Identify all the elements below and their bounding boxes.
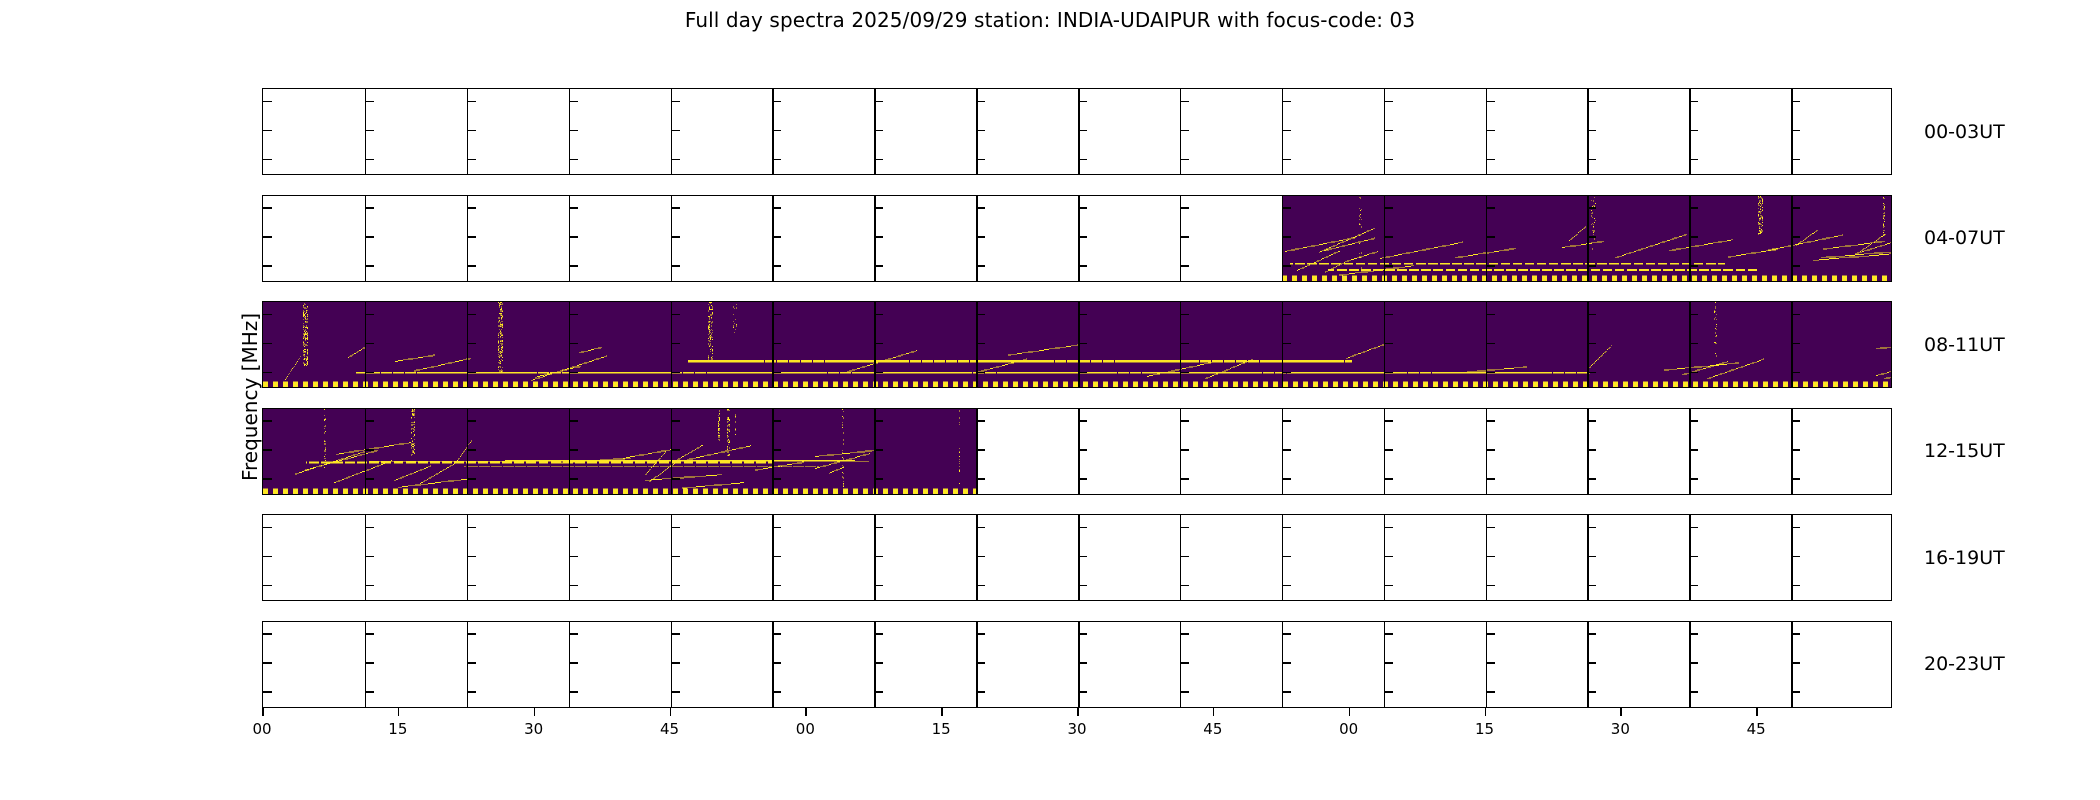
y-tick-mark: [1078, 478, 1087, 480]
y-tick-mark: [365, 372, 374, 374]
y-tick-mark: [1486, 633, 1495, 635]
y-tick-mark: [467, 159, 476, 161]
x-tick-mark: [534, 708, 536, 716]
y-tick-mark: [1078, 527, 1087, 529]
y-tick-mark: [976, 372, 985, 374]
y-tick-mark: [874, 449, 883, 451]
y-tick-mark: [569, 527, 578, 529]
y-tick-mark: [467, 236, 476, 238]
y-tick-mark: [1689, 449, 1698, 451]
y-tick-mark: [1384, 527, 1393, 529]
y-tick-mark: [1587, 633, 1596, 635]
y-tick-mark: [976, 478, 985, 480]
x-tick-label: 15: [932, 720, 951, 738]
y-tick-mark: [874, 101, 883, 103]
y-tick-mark: [671, 236, 680, 238]
y-tick-mark: [1078, 130, 1087, 132]
y-tick-mark: [976, 527, 985, 529]
y-tick-mark: [1282, 527, 1291, 529]
y-tick-mark: [976, 420, 985, 422]
y-tick-mark: [1689, 662, 1698, 664]
y-tick-mark: [1180, 159, 1189, 161]
y-tick-mark: [569, 556, 578, 558]
y-tick-mark: [1384, 478, 1393, 480]
x-tick-label: 45: [1203, 720, 1222, 738]
y-tick-mark: [1078, 449, 1087, 451]
y-tick-mark: [1689, 372, 1698, 374]
y-tick-mark: [1078, 207, 1087, 209]
y-tick-mark: [1282, 691, 1291, 693]
y-tick-mark: [1384, 420, 1393, 422]
y-tick-mark: [1078, 662, 1087, 664]
y-tick-mark: [263, 585, 272, 587]
y-tick-mark: [671, 585, 680, 587]
y-tick-mark: [263, 101, 272, 103]
y-tick-mark: [1486, 556, 1495, 558]
y-tick-mark: [1486, 343, 1495, 345]
spectrogram-row-20-23ut: [262, 621, 1892, 708]
y-tick-mark: [263, 556, 272, 558]
y-tick-mark: [1791, 556, 1800, 558]
y-tick-mark: [976, 662, 985, 664]
y-tick-mark: [1587, 585, 1596, 587]
y-tick-mark: [1486, 662, 1495, 664]
y-tick-mark: [772, 478, 781, 480]
y-tick-mark: [1486, 478, 1495, 480]
y-tick-mark: [772, 527, 781, 529]
y-tick-mark: [1078, 314, 1087, 316]
y-tick-mark: [1282, 101, 1291, 103]
y-tick-mark: [976, 585, 985, 587]
y-tick-mark: [467, 556, 476, 558]
y-tick-mark: [671, 556, 680, 558]
y-tick-mark: [1282, 662, 1291, 664]
row-label-20-23ut: 20-23UT: [1924, 653, 2005, 675]
y-tick-mark: [1180, 420, 1189, 422]
spectrogram-row-12-15ut: [262, 408, 1892, 495]
y-tick-mark: [874, 420, 883, 422]
y-tick-mark: [1180, 556, 1189, 558]
y-tick-mark: [569, 101, 578, 103]
y-tick-mark: [467, 585, 476, 587]
y-tick-mark: [1689, 420, 1698, 422]
y-tick-mark: [1384, 265, 1393, 267]
plot-area: Frequency [MHz] 75502500-03UT75502504-07…: [262, 88, 1892, 705]
y-tick-mark: [1486, 372, 1495, 374]
y-tick-mark: [263, 527, 272, 529]
y-tick-mark: [1689, 556, 1698, 558]
y-tick-mark: [1282, 207, 1291, 209]
row-label-00-03ut: 00-03UT: [1924, 121, 2005, 143]
y-tick-mark: [772, 449, 781, 451]
y-tick-mark: [1486, 691, 1495, 693]
y-tick-mark: [874, 343, 883, 345]
y-tick-mark: [1791, 265, 1800, 267]
y-tick-mark: [365, 420, 374, 422]
y-tick-mark: [1282, 449, 1291, 451]
y-tick-mark: [976, 633, 985, 635]
y-tick-mark: [1486, 265, 1495, 267]
panel-separators: [263, 622, 1891, 707]
y-tick-mark: [263, 130, 272, 132]
y-tick-mark: [1384, 130, 1393, 132]
y-tick-mark: [365, 130, 374, 132]
y-tick-mark: [263, 420, 272, 422]
y-tick-mark: [263, 314, 272, 316]
y-tick-mark: [976, 207, 985, 209]
y-tick-mark: [1791, 159, 1800, 161]
y-tick-mark: [1282, 372, 1291, 374]
y-tick-mark: [1384, 314, 1393, 316]
y-tick-mark: [772, 130, 781, 132]
y-tick-mark: [1180, 449, 1189, 451]
x-tick-label: 15: [388, 720, 407, 738]
y-tick-mark: [467, 343, 476, 345]
y-tick-mark: [467, 420, 476, 422]
y-tick-mark: [467, 449, 476, 451]
y-tick-mark: [874, 585, 883, 587]
y-tick-mark: [365, 449, 374, 451]
y-tick-mark: [1486, 236, 1495, 238]
y-tick-mark: [1078, 420, 1087, 422]
y-tick-mark: [874, 662, 883, 664]
y-tick-mark: [772, 662, 781, 664]
y-tick-mark: [1282, 343, 1291, 345]
panel-separators: [263, 89, 1891, 174]
y-axis-title: Frequency [MHz]: [238, 312, 262, 480]
x-tick-label: 00: [252, 720, 271, 738]
x-tick-label: 00: [796, 720, 815, 738]
y-tick-mark: [467, 527, 476, 529]
y-tick-mark: [263, 236, 272, 238]
y-tick-mark: [772, 314, 781, 316]
figure-title: Full day spectra 2025/09/29 station: IND…: [0, 8, 2100, 32]
x-tick-mark: [941, 708, 943, 716]
y-tick-mark: [1384, 585, 1393, 587]
y-tick-mark: [1078, 585, 1087, 587]
y-tick-mark: [976, 101, 985, 103]
y-tick-mark: [467, 372, 476, 374]
y-tick-mark: [1689, 159, 1698, 161]
y-tick-mark: [1180, 343, 1189, 345]
y-tick-mark: [1078, 343, 1087, 345]
y-tick-mark: [1587, 420, 1596, 422]
y-tick-mark: [1587, 159, 1596, 161]
y-tick-mark: [263, 633, 272, 635]
y-tick-mark: [1384, 159, 1393, 161]
y-tick-mark: [976, 265, 985, 267]
row-label-16-19ut: 16-19UT: [1924, 547, 2005, 569]
y-tick-mark: [467, 265, 476, 267]
y-tick-mark: [1078, 101, 1087, 103]
y-tick-mark: [1180, 101, 1189, 103]
y-tick-mark: [1486, 101, 1495, 103]
y-tick-mark: [1587, 265, 1596, 267]
y-tick-mark: [1486, 420, 1495, 422]
y-tick-mark: [365, 236, 374, 238]
y-tick-mark: [874, 130, 883, 132]
x-tick-label: 15: [1475, 720, 1494, 738]
y-tick-mark: [569, 449, 578, 451]
y-tick-mark: [1587, 236, 1596, 238]
y-tick-mark: [1587, 343, 1596, 345]
y-tick-mark: [365, 633, 374, 635]
y-tick-mark: [976, 556, 985, 558]
spectrogram-row-16-19ut: [262, 514, 1892, 601]
y-tick-mark: [1587, 449, 1596, 451]
y-tick-mark: [1180, 372, 1189, 374]
y-tick-mark: [1791, 691, 1800, 693]
y-tick-mark: [671, 130, 680, 132]
y-tick-mark: [772, 265, 781, 267]
y-tick-mark: [365, 207, 374, 209]
y-tick-mark: [1282, 159, 1291, 161]
y-tick-mark: [772, 207, 781, 209]
y-tick-mark: [1384, 691, 1393, 693]
y-tick-mark: [976, 691, 985, 693]
x-tick-mark: [670, 708, 672, 716]
y-tick-mark: [1689, 130, 1698, 132]
y-tick-mark: [874, 478, 883, 480]
y-tick-mark: [467, 691, 476, 693]
y-tick-mark: [772, 159, 781, 161]
y-tick-mark: [467, 314, 476, 316]
y-tick-mark: [1689, 314, 1698, 316]
y-tick-mark: [1791, 343, 1800, 345]
y-tick-mark: [976, 449, 985, 451]
y-tick-mark: [365, 101, 374, 103]
y-tick-mark: [263, 691, 272, 693]
y-tick-mark: [1078, 633, 1087, 635]
y-tick-mark: [365, 343, 374, 345]
y-tick-mark: [569, 207, 578, 209]
y-tick-mark: [1384, 101, 1393, 103]
row-label-04-07ut: 04-07UT: [1924, 227, 2005, 249]
y-tick-mark: [365, 662, 374, 664]
y-tick-mark: [671, 159, 680, 161]
y-tick-mark: [1791, 101, 1800, 103]
spectrogram-row-04-07ut: [262, 195, 1892, 282]
x-tick-label: 45: [1747, 720, 1766, 738]
y-tick-mark: [467, 633, 476, 635]
y-tick-mark: [569, 372, 578, 374]
y-tick-mark: [1587, 130, 1596, 132]
y-tick-mark: [1486, 449, 1495, 451]
y-tick-mark: [772, 343, 781, 345]
y-tick-mark: [772, 691, 781, 693]
x-tick-label: 30: [1067, 720, 1086, 738]
x-tick-mark: [1756, 708, 1758, 716]
y-tick-mark: [671, 343, 680, 345]
y-tick-mark: [1791, 478, 1800, 480]
y-tick-mark: [467, 130, 476, 132]
y-tick-mark: [874, 633, 883, 635]
y-tick-mark: [1689, 633, 1698, 635]
y-tick-mark: [976, 314, 985, 316]
y-tick-mark: [365, 527, 374, 529]
y-tick-mark: [1078, 691, 1087, 693]
y-tick-mark: [1587, 556, 1596, 558]
y-tick-mark: [1282, 633, 1291, 635]
y-tick-mark: [1282, 478, 1291, 480]
y-tick-mark: [1791, 633, 1800, 635]
x-tick-label: 30: [524, 720, 543, 738]
y-tick-mark: [263, 159, 272, 161]
y-tick-mark: [1587, 372, 1596, 374]
y-tick-mark: [1791, 449, 1800, 451]
x-tick-label: 00: [1339, 720, 1358, 738]
y-tick-mark: [1078, 236, 1087, 238]
y-tick-mark: [1282, 420, 1291, 422]
y-tick-mark: [365, 265, 374, 267]
y-tick-mark: [1282, 130, 1291, 132]
y-tick-mark: [569, 662, 578, 664]
y-tick-mark: [772, 585, 781, 587]
y-tick-mark: [874, 314, 883, 316]
y-tick-mark: [1689, 207, 1698, 209]
x-tick-mark: [1077, 708, 1079, 716]
y-tick-mark: [1282, 314, 1291, 316]
x-tick-mark: [1349, 708, 1351, 716]
y-tick-mark: [1587, 662, 1596, 664]
y-tick-mark: [1180, 585, 1189, 587]
y-tick-mark: [1282, 585, 1291, 587]
x-tick-mark: [1485, 708, 1487, 716]
y-tick-mark: [976, 159, 985, 161]
y-tick-mark: [467, 101, 476, 103]
y-tick-mark: [263, 343, 272, 345]
y-tick-mark: [569, 343, 578, 345]
y-tick-mark: [1486, 207, 1495, 209]
y-tick-mark: [1791, 420, 1800, 422]
y-tick-mark: [263, 207, 272, 209]
y-tick-mark: [1384, 449, 1393, 451]
y-tick-mark: [1689, 527, 1698, 529]
y-tick-mark: [1180, 691, 1189, 693]
y-tick-mark: [671, 662, 680, 664]
y-tick-mark: [671, 633, 680, 635]
y-tick-mark: [263, 662, 272, 664]
y-tick-mark: [1689, 265, 1698, 267]
y-tick-mark: [976, 236, 985, 238]
y-tick-mark: [772, 372, 781, 374]
y-tick-mark: [365, 159, 374, 161]
y-tick-mark: [1689, 585, 1698, 587]
spectrogram-row-00-03ut: [262, 88, 1892, 175]
y-tick-mark: [1791, 236, 1800, 238]
x-tick-mark: [805, 708, 807, 716]
y-tick-mark: [671, 691, 680, 693]
y-tick-mark: [874, 372, 883, 374]
y-tick-mark: [1384, 633, 1393, 635]
y-tick-mark: [569, 478, 578, 480]
row-label-08-11ut: 08-11UT: [1924, 334, 2005, 356]
y-tick-mark: [1689, 236, 1698, 238]
y-tick-mark: [1791, 527, 1800, 529]
y-tick-mark: [1180, 207, 1189, 209]
y-tick-mark: [874, 265, 883, 267]
y-tick-mark: [1689, 101, 1698, 103]
y-tick-mark: [467, 478, 476, 480]
x-tick-mark: [1213, 708, 1215, 716]
y-tick-mark: [874, 236, 883, 238]
y-tick-mark: [1486, 130, 1495, 132]
y-tick-mark: [671, 449, 680, 451]
y-tick-mark: [1180, 662, 1189, 664]
y-tick-mark: [1078, 159, 1087, 161]
y-tick-mark: [671, 314, 680, 316]
y-tick-mark: [1486, 159, 1495, 161]
y-tick-mark: [1689, 691, 1698, 693]
y-tick-mark: [569, 585, 578, 587]
y-tick-mark: [671, 101, 680, 103]
y-tick-mark: [671, 420, 680, 422]
y-tick-mark: [569, 314, 578, 316]
y-tick-mark: [1587, 691, 1596, 693]
y-tick-mark: [671, 372, 680, 374]
x-tick-mark: [398, 708, 400, 716]
x-tick-mark: [262, 708, 264, 716]
y-tick-mark: [467, 207, 476, 209]
y-tick-mark: [1689, 478, 1698, 480]
y-tick-mark: [1384, 236, 1393, 238]
y-tick-mark: [1180, 130, 1189, 132]
y-tick-mark: [1486, 527, 1495, 529]
y-tick-mark: [1791, 372, 1800, 374]
y-tick-mark: [874, 207, 883, 209]
y-tick-mark: [365, 314, 374, 316]
y-tick-mark: [569, 691, 578, 693]
y-tick-mark: [1180, 527, 1189, 529]
y-tick-mark: [671, 207, 680, 209]
y-tick-mark: [1078, 265, 1087, 267]
y-tick-mark: [772, 556, 781, 558]
y-tick-mark: [1282, 556, 1291, 558]
x-tick-label: 45: [660, 720, 679, 738]
y-tick-mark: [1384, 207, 1393, 209]
y-tick-mark: [365, 556, 374, 558]
y-tick-mark: [1689, 343, 1698, 345]
y-tick-mark: [1180, 633, 1189, 635]
y-tick-mark: [1791, 207, 1800, 209]
y-tick-mark: [1486, 314, 1495, 316]
y-tick-mark: [1180, 236, 1189, 238]
y-tick-mark: [467, 662, 476, 664]
y-tick-mark: [1282, 236, 1291, 238]
y-tick-mark: [1587, 527, 1596, 529]
y-tick-mark: [1384, 662, 1393, 664]
y-tick-mark: [1078, 556, 1087, 558]
y-tick-mark: [1180, 265, 1189, 267]
y-tick-mark: [569, 265, 578, 267]
panel-separators: [263, 515, 1891, 600]
y-tick-mark: [365, 585, 374, 587]
y-tick-mark: [569, 633, 578, 635]
x-tick-label: 30: [1611, 720, 1630, 738]
y-tick-mark: [772, 420, 781, 422]
spectrogram-figure: Full day spectra 2025/09/29 station: IND…: [0, 0, 2100, 800]
y-tick-mark: [874, 691, 883, 693]
y-tick-mark: [976, 130, 985, 132]
y-tick-mark: [772, 236, 781, 238]
row-label-12-15ut: 12-15UT: [1924, 440, 2005, 462]
y-tick-mark: [874, 527, 883, 529]
y-tick-mark: [1791, 585, 1800, 587]
y-tick-mark: [365, 691, 374, 693]
y-tick-mark: [263, 449, 272, 451]
y-tick-mark: [1384, 372, 1393, 374]
y-tick-mark: [263, 478, 272, 480]
